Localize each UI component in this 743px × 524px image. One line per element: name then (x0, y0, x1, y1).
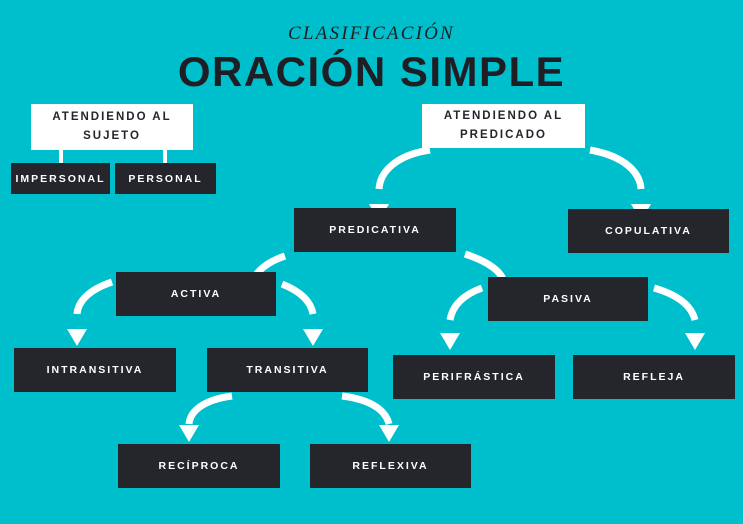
node-impersonal[interactable]: IMPERSONAL (11, 163, 110, 194)
arrowhead-reflexiva (379, 425, 399, 442)
arrow-predicado-to-copulativa-path (590, 150, 641, 189)
arrow-activa-to-intransitiva-path (77, 282, 112, 314)
arrow-activa-to-transitiva-path (282, 284, 313, 314)
arrowhead-refleja (685, 333, 705, 350)
arrowhead-intransitiva (67, 329, 87, 346)
arrowhead-perifrastica (440, 333, 460, 350)
node-predicativa[interactable]: PREDICATIVA (294, 208, 456, 252)
connector-personal (163, 150, 167, 164)
heading-atendiendo-al-sujeto: ATENDIENDO AL SUJETO (31, 104, 193, 150)
node-activa[interactable]: ACTIVA (116, 272, 276, 316)
node-pasiva[interactable]: PASIVA (488, 277, 648, 321)
arrow-pasiva-to-perifrastica-path (450, 288, 482, 320)
node-perifrastica[interactable]: PERIFRÁSTICA (393, 355, 555, 399)
arrow-transitiva-to-reflexiva-path (342, 396, 389, 424)
arrow-predicado-to-predicativa-path (379, 150, 430, 189)
node-personal[interactable]: PERSONAL (115, 163, 216, 194)
arrow-transitiva-to-reciproca-path (189, 396, 232, 424)
heading-atendiendo-al-predicado: ATENDIENDO AL PREDICADO (422, 104, 585, 148)
arrow-predicativa-to-pasiva-path (465, 254, 503, 279)
arrowhead-reciproca (179, 425, 199, 442)
node-refleja[interactable]: REFLEJA (573, 355, 735, 399)
node-reflexiva[interactable]: REFLEXIVA (310, 444, 471, 488)
node-reciproca[interactable]: RECÍPROCA (118, 444, 280, 488)
connector-impersonal (59, 150, 63, 164)
node-transitiva[interactable]: TRANSITIVA (207, 348, 368, 392)
node-copulativa[interactable]: COPULATIVA (568, 209, 729, 253)
page-title: ORACIÓN SIMPLE (0, 48, 743, 96)
arrowhead-transitiva (303, 329, 323, 346)
arrow-pasiva-to-refleja-path (654, 288, 695, 320)
subtitle: CLASIFICACIÓN (0, 23, 743, 45)
node-intransitiva[interactable]: INTRANSITIVA (14, 348, 176, 392)
infographic-canvas: CLASIFICACIÓN ORACIÓN SIMPLE (0, 0, 743, 524)
